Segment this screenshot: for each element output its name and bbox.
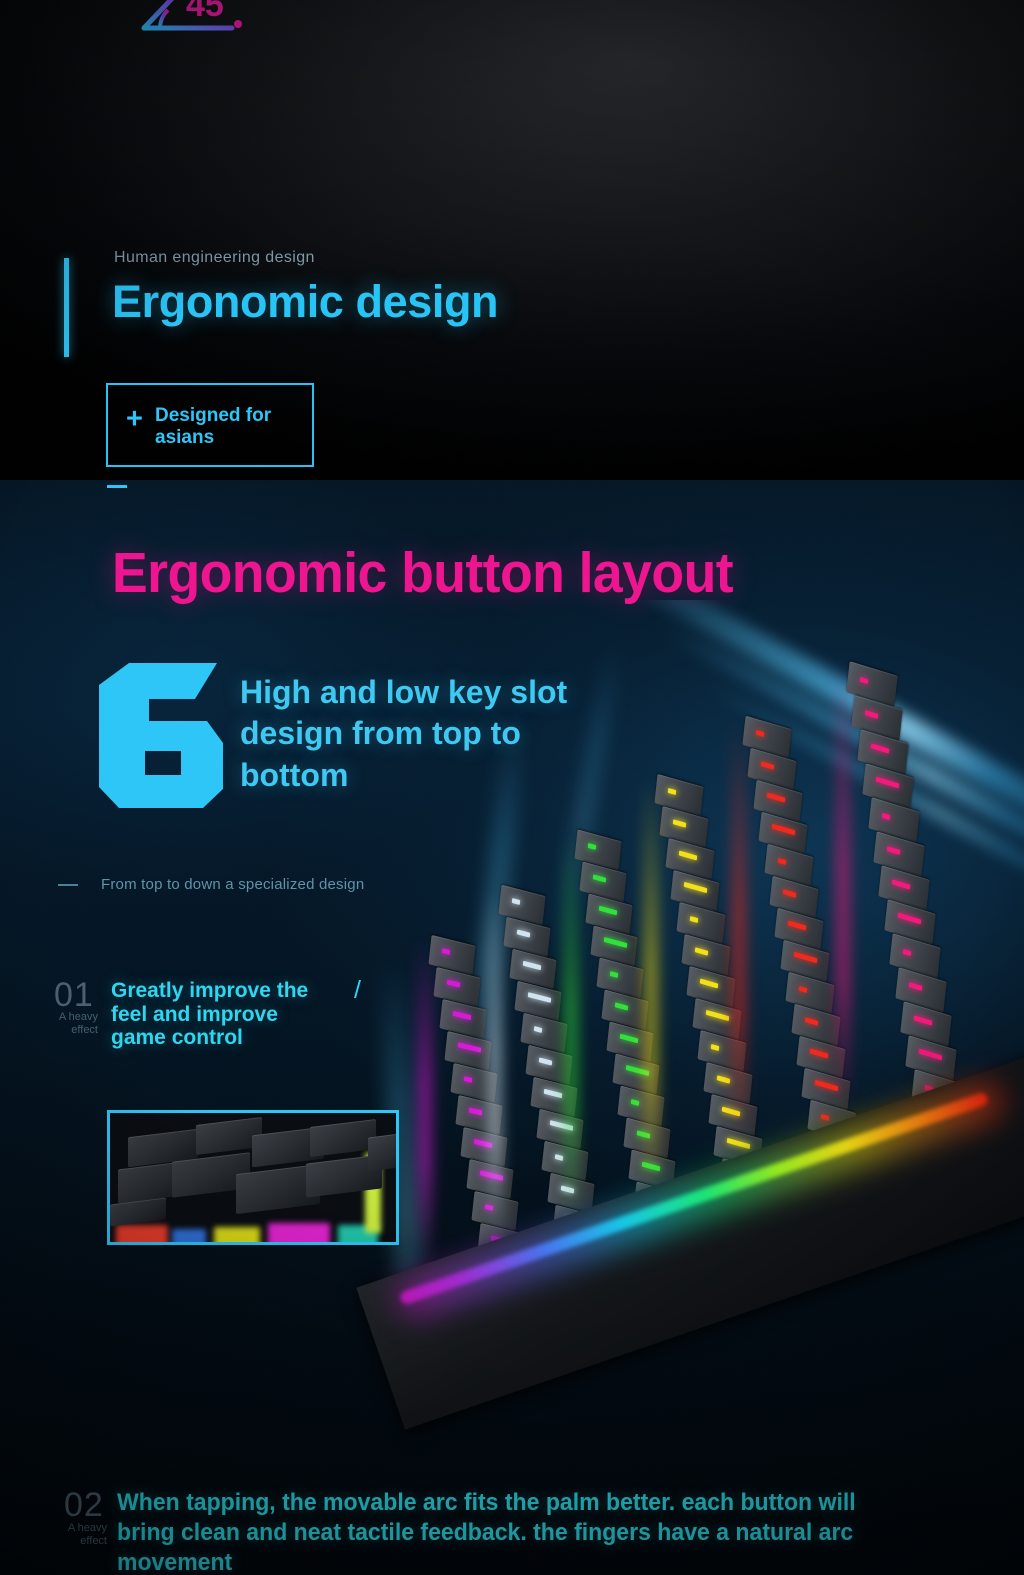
product-marketing-page: 45 Human engineering design Ergonomic de… xyxy=(0,0,1024,1575)
background-vignette xyxy=(0,0,1024,1575)
